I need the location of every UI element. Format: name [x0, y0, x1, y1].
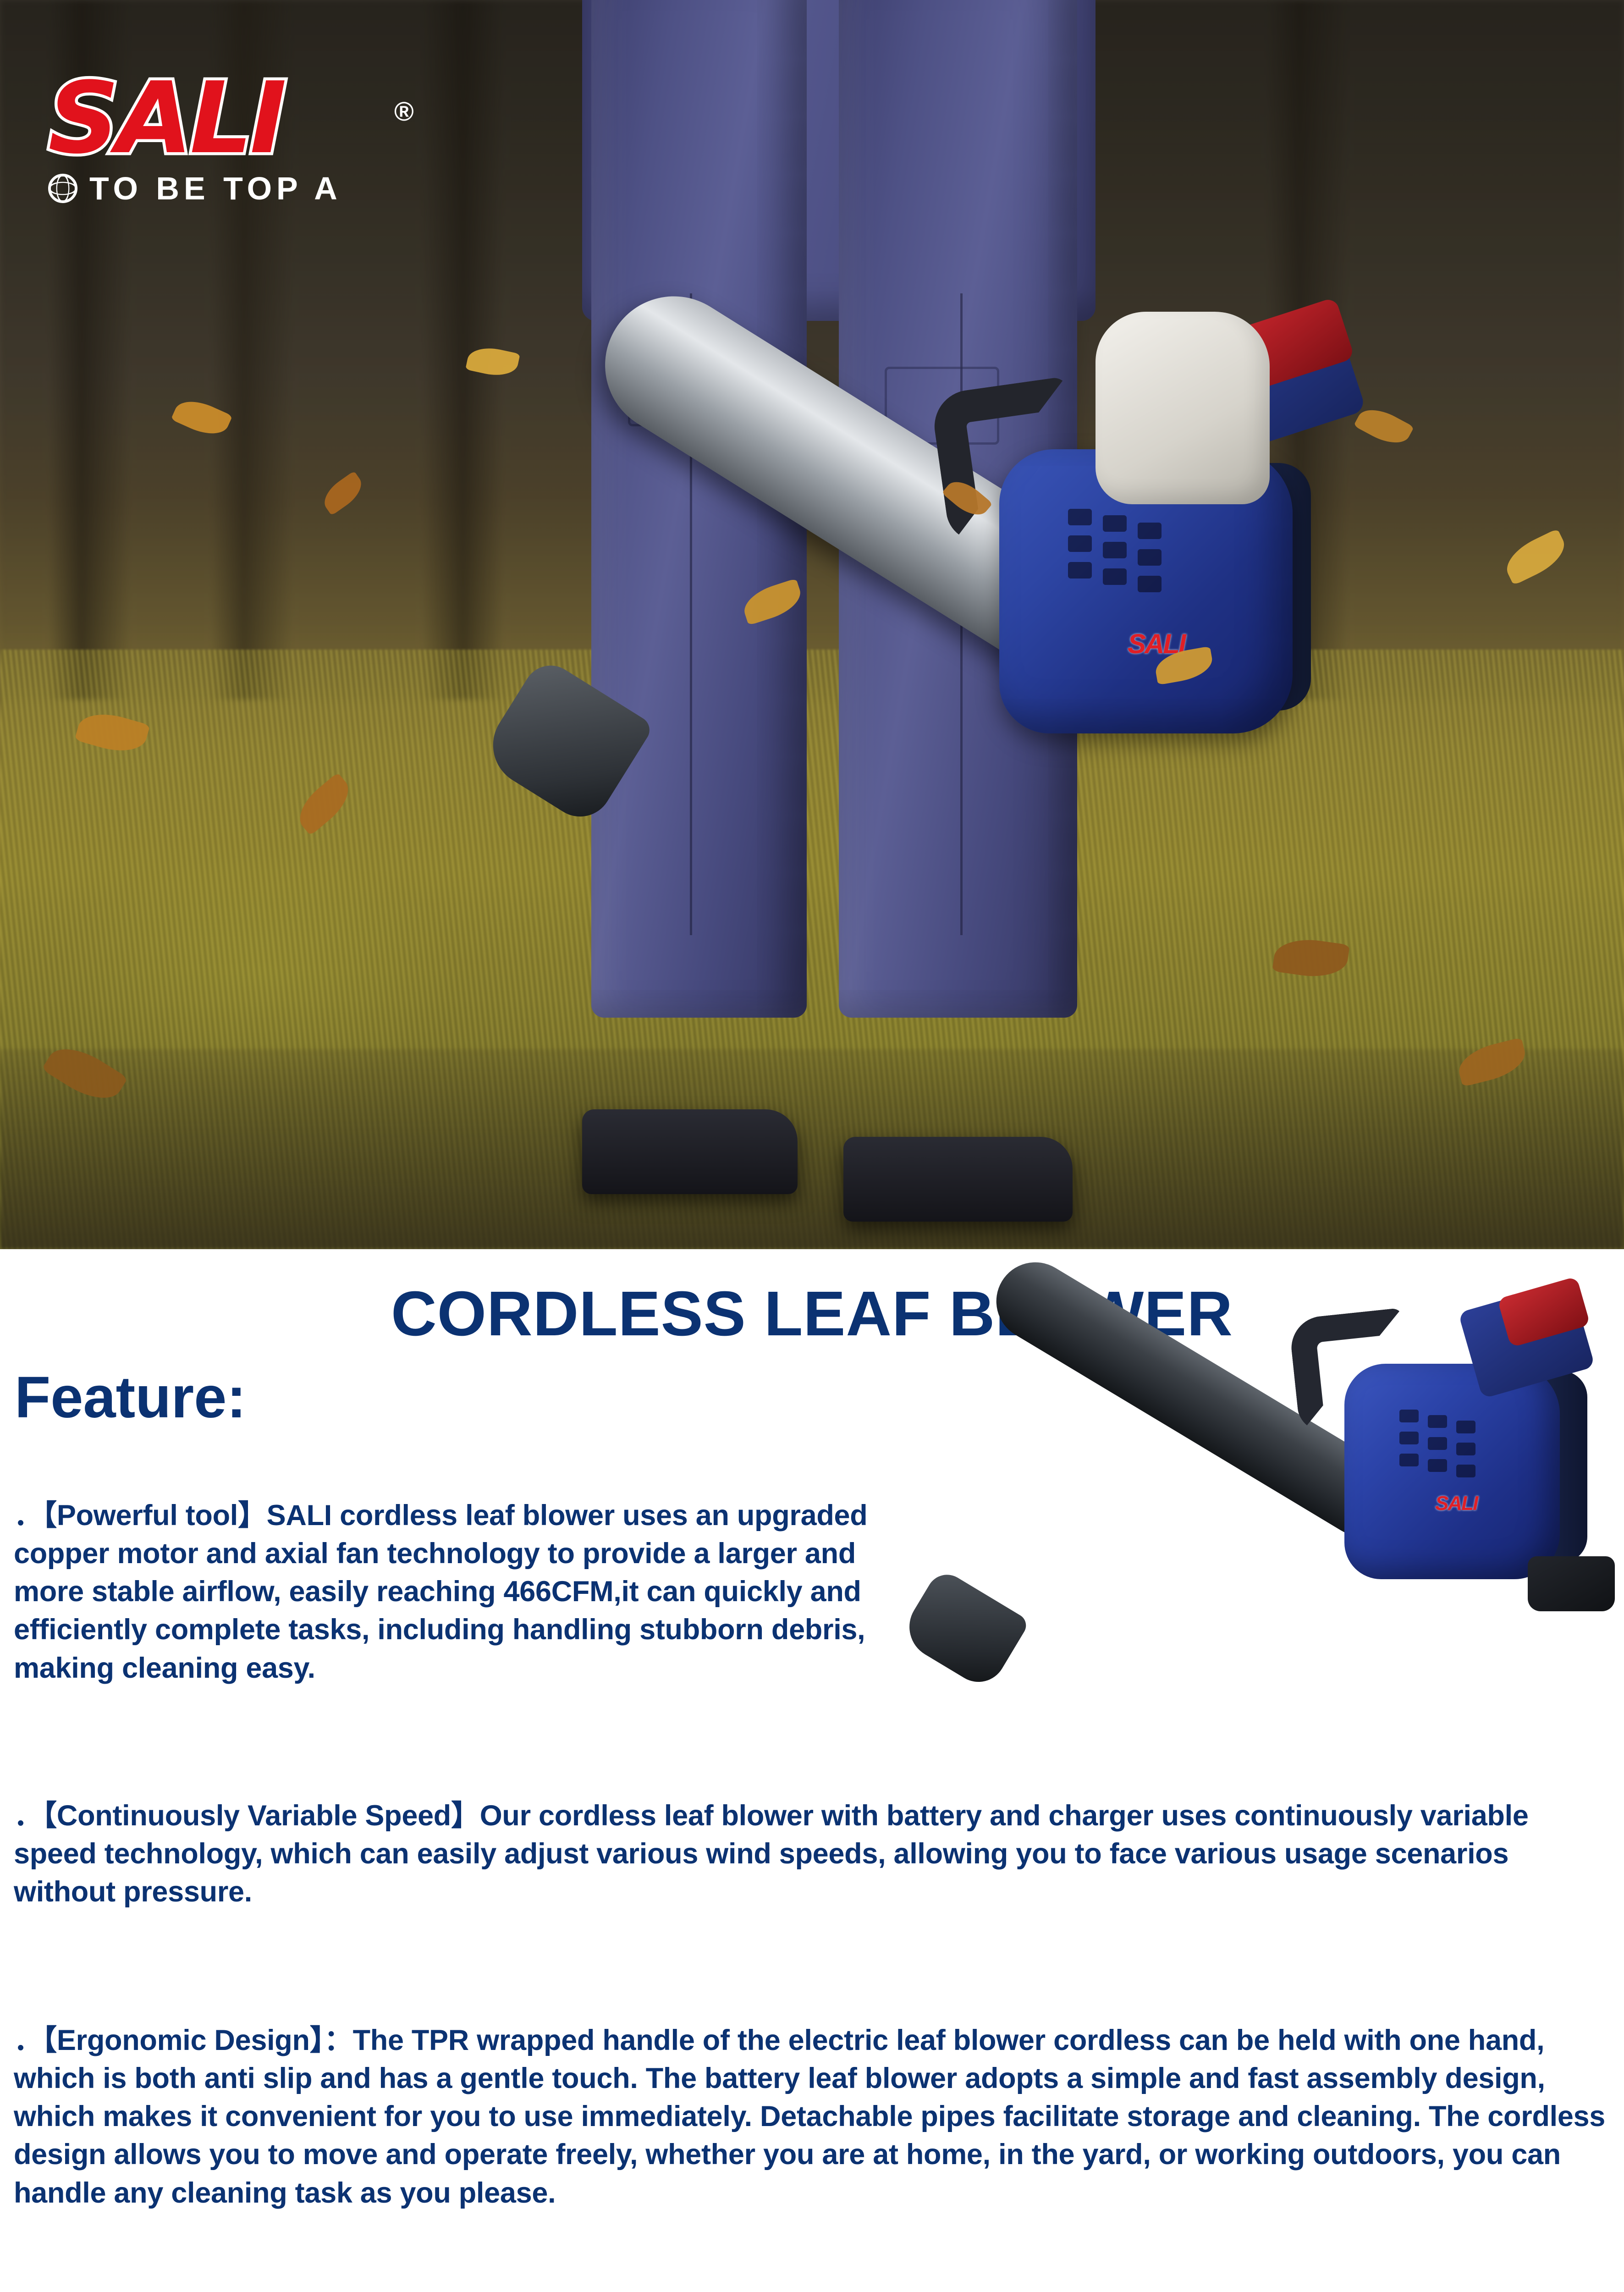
- registered-trademark-icon: ®: [394, 96, 414, 127]
- worker-shoe-left: [582, 1109, 798, 1194]
- content-area: CORDLESS LEAF BLOWER Feature: SALI ．【Pow…: [0, 1249, 1624, 1350]
- brand-logo: SALI ® TO BE TOP A: [48, 69, 415, 207]
- product-handle: [1288, 1308, 1415, 1434]
- feature-heading: Feature:: [15, 1364, 246, 1431]
- product-nozzle-tip: [897, 1567, 1030, 1692]
- product-photo: SALI: [918, 1295, 1615, 1772]
- worker-shoe-right: [843, 1137, 1073, 1222]
- feature-paragraph-powerful-tool: ．【Powerful tool】SALI cordless leaf blowe…: [14, 1497, 898, 1687]
- globe-icon: [48, 174, 77, 203]
- feature-paragraph-continuously-variable-speed: ．【Continuously Variable Speed】Our cordle…: [14, 1797, 1609, 1911]
- brand-logo-text: SALI: [48, 69, 415, 167]
- blower-vents: [1068, 509, 1201, 646]
- brand-tagline-row: TO BE TOP A: [48, 170, 415, 207]
- product-brand-mark: SALI: [1435, 1492, 1477, 1515]
- worker-glove: [1096, 312, 1270, 504]
- hero-banner: SALI SALI ® TO BE TOP A: [0, 0, 1624, 1249]
- feature-paragraph-ergonomic-design: ．【Ergonomic Design】：The TPR wrapped hand…: [14, 2022, 1609, 2212]
- product-base-foot: [1528, 1556, 1615, 1611]
- brand-tagline: TO BE TOP A: [89, 170, 342, 207]
- blower-handle: [930, 376, 1087, 545]
